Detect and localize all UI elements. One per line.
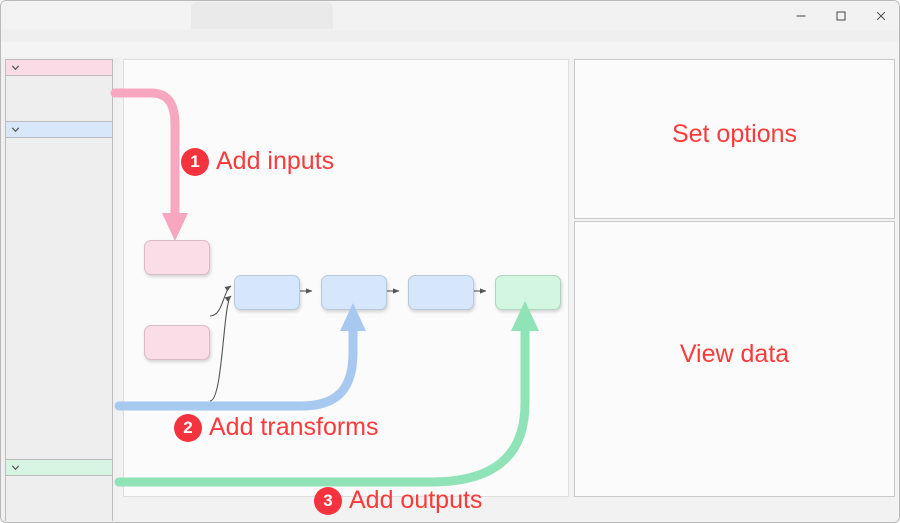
sidebar-item-transforms[interactable] xyxy=(5,121,113,459)
sidebar-outputs-body[interactable] xyxy=(6,476,112,521)
annotation-add-outputs: 3 Add outputs xyxy=(314,486,482,515)
window-controls xyxy=(781,1,900,30)
input-node-2[interactable] xyxy=(144,325,210,360)
annotation-label-2: Add transforms xyxy=(209,413,379,442)
chevron-down-icon xyxy=(10,62,21,73)
options-panel[interactable]: Set options xyxy=(574,59,895,219)
sidebar-item-outputs[interactable] xyxy=(5,459,113,521)
set-options-label: Set options xyxy=(575,120,894,149)
view-data-label: View data xyxy=(575,340,894,369)
sidebar-inputs-header[interactable] xyxy=(6,60,112,76)
close-icon xyxy=(875,10,887,22)
annotation-label-1: Add inputs xyxy=(216,147,334,176)
close-button[interactable] xyxy=(861,1,900,30)
transform-node-3[interactable] xyxy=(408,275,474,310)
toolbar-strip-lower xyxy=(1,42,900,57)
sidebar-transforms-body[interactable] xyxy=(6,138,112,459)
application-window: Set options View data 1 Add inputs 2 Add… xyxy=(0,0,900,523)
data-panel[interactable]: View data xyxy=(574,221,895,497)
output-node-1[interactable] xyxy=(495,275,561,310)
annotation-add-transforms: 2 Add transforms xyxy=(174,413,379,442)
transform-node-1[interactable] xyxy=(234,275,300,310)
chevron-down-icon xyxy=(10,124,21,135)
maximize-button[interactable] xyxy=(821,1,861,30)
sidebar-transforms-header[interactable] xyxy=(6,122,112,138)
sidebar xyxy=(1,57,118,523)
sidebar-outputs-header[interactable] xyxy=(6,460,112,476)
maximize-icon xyxy=(835,10,847,22)
title-bar xyxy=(1,1,900,31)
sidebar-inputs-body[interactable] xyxy=(6,76,112,121)
annotation-add-inputs: 1 Add inputs xyxy=(181,147,334,176)
annotation-badge-1: 1 xyxy=(181,148,209,176)
input-node-1[interactable] xyxy=(144,240,210,275)
minimize-icon xyxy=(795,10,807,22)
minimize-button[interactable] xyxy=(781,1,821,30)
window-tab-1[interactable] xyxy=(6,2,191,29)
chevron-down-icon xyxy=(10,462,21,473)
annotation-label-3: Add outputs xyxy=(349,486,482,515)
annotation-badge-2: 2 xyxy=(174,414,202,442)
annotation-badge-3: 3 xyxy=(314,487,342,515)
transform-node-2[interactable] xyxy=(321,275,387,310)
sidebar-item-inputs[interactable] xyxy=(5,59,113,121)
window-tab-2[interactable] xyxy=(191,2,333,29)
